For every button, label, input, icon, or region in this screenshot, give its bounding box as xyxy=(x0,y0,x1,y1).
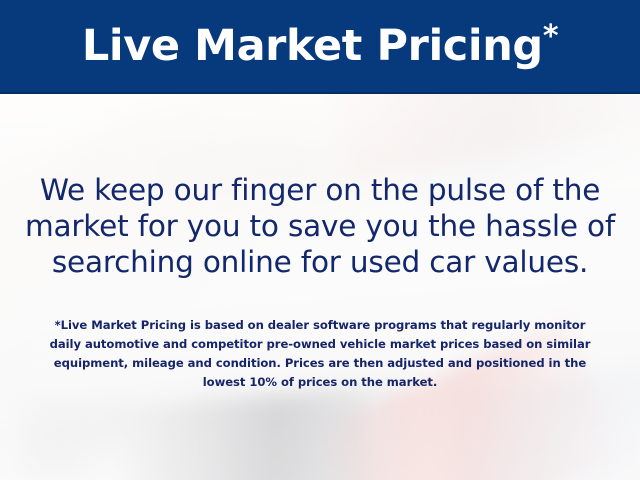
disclaimer-line-2: daily automotive and competitor pre-owne… xyxy=(0,335,640,354)
headline-line-3: searching online for used car values. xyxy=(0,244,640,280)
disclaimer-line-1: *Live Market Pricing is based on dealer … xyxy=(0,316,640,335)
disclaimer-line-3: equipment, mileage and condition. Prices… xyxy=(0,354,640,373)
page-title-asterisk: * xyxy=(543,19,558,54)
live-market-pricing-banner: Live Market Pricing* We keep our finger … xyxy=(0,0,640,480)
disclaimer: *Live Market Pricing is based on dealer … xyxy=(0,316,640,392)
page-title-text: Live Market Pricing xyxy=(82,21,543,71)
header-bar: Live Market Pricing* xyxy=(0,0,640,94)
headline-line-1: We keep our finger on the pulse of the xyxy=(0,172,640,208)
disclaimer-line-4: lowest 10% of prices on the market. xyxy=(0,373,640,392)
headline: We keep our finger on the pulse of the m… xyxy=(0,172,640,280)
headline-line-2: market for you to save you the hassle of xyxy=(0,208,640,244)
page-title: Live Market Pricing* xyxy=(82,25,558,68)
